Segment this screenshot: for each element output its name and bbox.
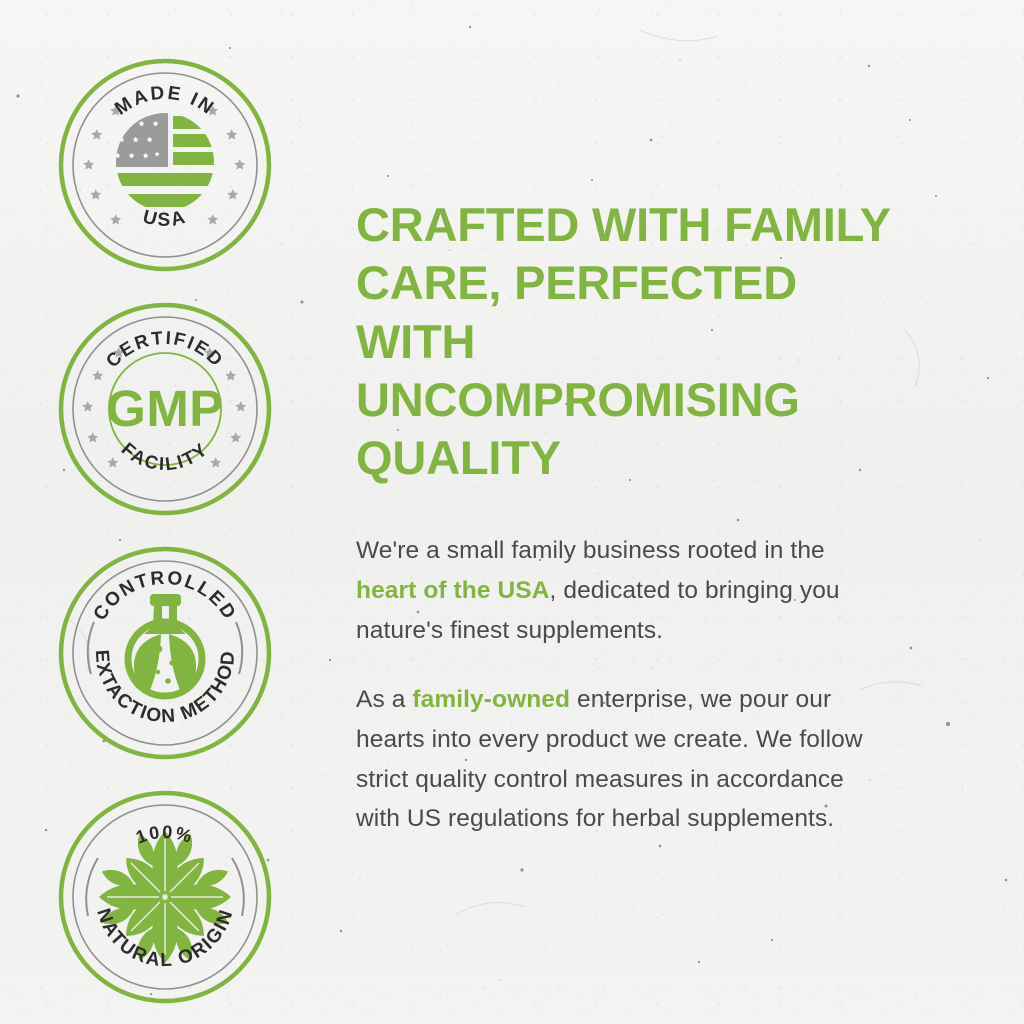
paragraph-one-highlight: heart of the USA	[356, 577, 550, 604]
svg-text:EXTACTION METHOD: EXTACTION METHOD	[91, 649, 240, 727]
paragraph-two-part-one: As a	[356, 686, 412, 713]
gmp-text-icon: GMP	[106, 380, 224, 437]
us-flag-circle-icon	[110, 108, 220, 207]
side-arc-left	[86, 858, 98, 916]
side-arc-right	[232, 858, 244, 916]
badge-controlled-extraction-method: CONTROLLED EXTACTION METHOD	[58, 546, 272, 760]
paragraph-one: We're a small family business rooted in …	[356, 531, 876, 650]
flask-leaf-icon	[128, 594, 202, 696]
badge-top-text: CERTIFIED	[102, 327, 229, 372]
svg-text:USA: USA	[141, 206, 190, 230]
badge-column: MADE IN USA	[0, 0, 330, 1024]
svg-text:FACILITY: FACILITY	[118, 438, 213, 474]
content-column: CRAFTED WITH FAMILY CARE, PERFECTED WITH…	[330, 0, 1024, 1024]
svg-text:CERTIFIED: CERTIFIED	[102, 327, 229, 372]
badge-bottom-text: FACILITY	[118, 438, 213, 474]
side-arc-right	[236, 622, 242, 674]
badge-bottom-text: USA	[141, 206, 190, 230]
badge-bottom-text: EXTACTION METHOD	[91, 649, 240, 727]
badge-made-in-usa: MADE IN USA	[58, 58, 272, 272]
badge-gmp-certified-facility: CERTIFIED GMP FACILITY	[58, 302, 272, 516]
paragraph-one-part-one: We're a small family business rooted in …	[356, 537, 825, 564]
paragraph-two: As a family-owned enterprise, we pour ou…	[356, 680, 876, 839]
page-title: CRAFTED WITH FAMILY CARE, PERFECTED WITH…	[356, 196, 912, 487]
paragraph-two-highlight: family-owned	[412, 686, 570, 713]
badge-natural-origin: 100% NATURAL ORIGIN	[58, 790, 272, 1004]
